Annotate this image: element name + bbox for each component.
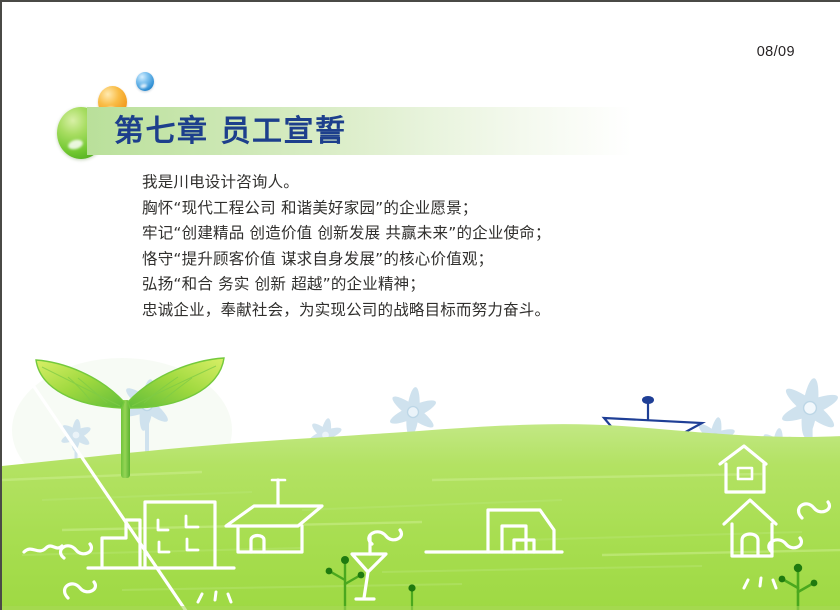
chapter-heading: 第七章 员工宣誓: [2, 62, 840, 162]
oath-line: 胸怀“现代工程公司 和谐美好家园”的企业愿景；: [142, 196, 762, 222]
page-number: 08/09: [757, 44, 795, 60]
oath-line: 我是川电设计咨询人。: [142, 170, 762, 196]
oath-line: 牢记“创建精品 创造价值 创新发展 共赢未来”的企业使命；: [142, 221, 762, 247]
chapter-title: 第七章 员工宣誓: [114, 109, 346, 154]
bottom-border: [2, 606, 840, 610]
oath-line: 恪守“提升顾客价值 谋求自身发展”的核心价值观；: [142, 247, 762, 273]
eco-landscape-illustration: [2, 340, 840, 610]
blue-sphere-icon: [136, 72, 154, 91]
oath-line: 弘扬“和合 务实 创新 超越”的企业精神；: [142, 272, 762, 298]
slide-page: 08/09 第七章 员工宣誓 我是川电设计咨询人。 胸怀“现代工程公司 和谐美好…: [0, 0, 840, 610]
oath-line: 忠诚企业，奉献社会，为实现公司的战略目标而努力奋斗。: [142, 298, 762, 324]
oath-text-block: 我是川电设计咨询人。 胸怀“现代工程公司 和谐美好家园”的企业愿景； 牢记“创建…: [142, 170, 762, 323]
